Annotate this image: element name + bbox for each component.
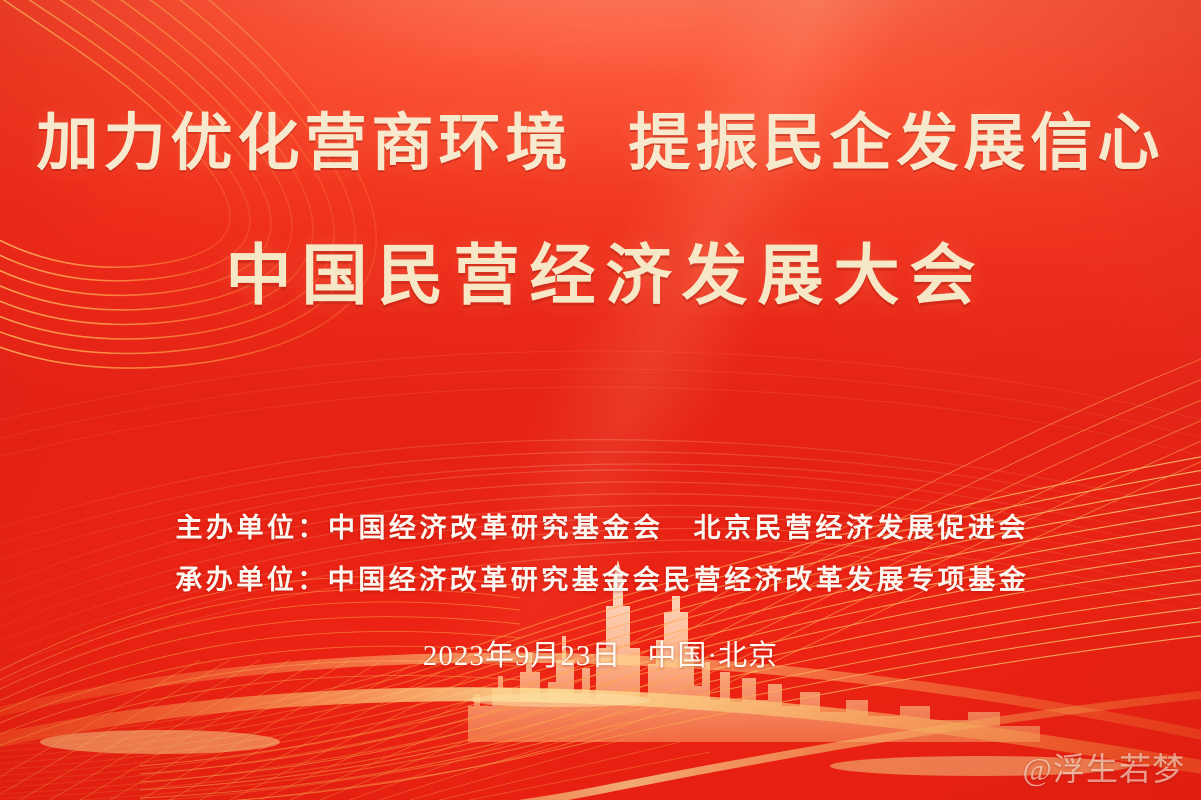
event-location: 中国·北京	[647, 640, 778, 672]
organizer-label: 承办单位：	[175, 565, 328, 595]
organizer-organization-1: 中国经济改革研究基金会民营经济改革发展专项基金	[328, 565, 1030, 595]
host-organization-line: 主办单位：中国经济改革研究基金会北京民营经济发展促进会	[0, 506, 1201, 545]
watermark-credit: @浮生若梦	[1023, 744, 1185, 790]
host-organization-1: 中国经济改革研究基金会	[328, 513, 664, 543]
headline-slogan-row: 加力优化营商环境 提振民企发展信心	[0, 92, 1201, 182]
host-organization-2: 北京民营经济发展促进会	[694, 513, 1030, 543]
headline-right: 提振民企发展信心	[629, 92, 1165, 182]
organizer-organization-line: 承办单位：中国经济改革研究基金会民营经济改革发展专项基金	[0, 558, 1201, 597]
event-date-location: 2023年9月23日中国·北京	[0, 632, 1201, 674]
headline-left: 加力优化营商环境	[36, 92, 572, 182]
event-date: 2023年9月23日	[423, 640, 622, 672]
host-label: 主办单位：	[176, 513, 329, 543]
conference-backdrop-banner: 加力优化营商环境 提振民企发展信心 中国民营经济发展大会 主办单位：中国经济改革…	[0, 0, 1201, 800]
page-title: 中国民营经济发展大会	[0, 222, 1201, 318]
